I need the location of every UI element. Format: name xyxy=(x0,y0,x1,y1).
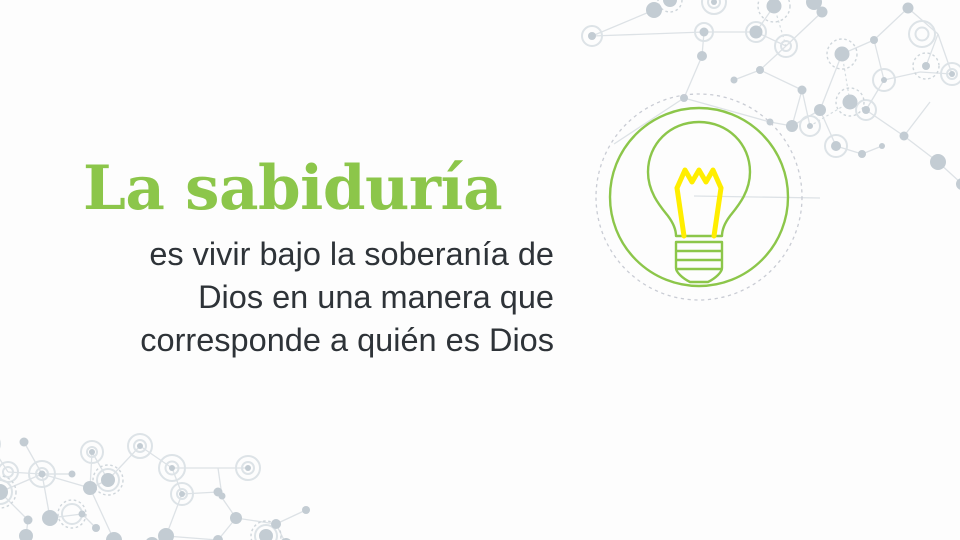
bulb-glass-outline xyxy=(648,122,750,236)
subtitle-line-2: Dios en una manera que xyxy=(60,276,554,319)
bulb-filament-stem-left xyxy=(677,188,684,236)
subtitle-line-3: corresponde a quién es Dios xyxy=(60,319,554,362)
bulb-filament-stem-right xyxy=(714,188,721,236)
lightbulb-icon xyxy=(592,90,806,304)
quote-text-block: La sabiduría es vivir bajo la soberanía … xyxy=(60,158,560,362)
page-title: La sabiduría xyxy=(60,158,560,219)
subtitle-line-1: es vivir bajo la soberanía de xyxy=(60,233,554,276)
subtitle-text: es vivir bajo la soberanía de Dios en un… xyxy=(60,233,560,362)
network-graph-bottom-left xyxy=(0,396,316,540)
bulb-filament xyxy=(677,170,721,188)
slide-canvas: La sabiduría es vivir bajo la soberanía … xyxy=(0,0,960,540)
bulb-base xyxy=(676,242,722,282)
